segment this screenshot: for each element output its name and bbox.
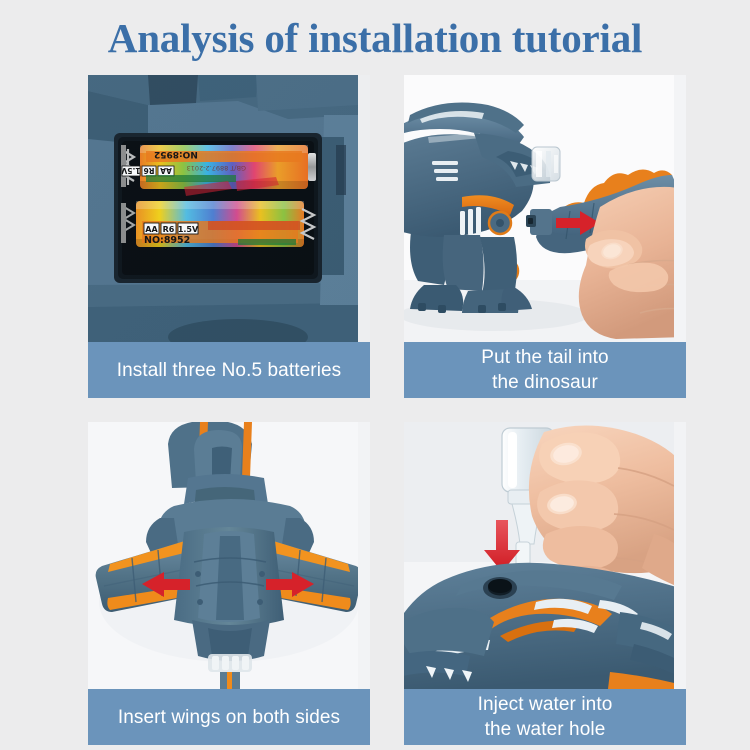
step-caption-text-2: Put the tail into the dinosaur: [481, 345, 608, 395]
step-caption-1: Install three No.5 batteries: [88, 342, 370, 398]
step-caption-text-1: Install three No.5 batteries: [117, 358, 342, 383]
step-card-3[interactable]: Insert wings on both sides: [88, 422, 370, 745]
step-caption-3: Insert wings on both sides: [88, 689, 370, 745]
page-title: Analysis of installation tutorial: [0, 12, 750, 64]
step-card-4[interactable]: Inject water into the water hole: [404, 422, 686, 745]
battery-compartment-photo: NO:8952 AA R6 1.5V GB/T 8897.2-2013: [88, 75, 370, 342]
step-caption-text-4: Inject water into the water hole: [478, 692, 613, 742]
inject-water-photo: [404, 422, 686, 689]
step-card-1[interactable]: NO:8952 AA R6 1.5V GB/T 8897.2-2013: [88, 75, 370, 398]
step-caption-2: Put the tail into the dinosaur: [404, 342, 686, 398]
step-caption-4: Inject water into the water hole: [404, 689, 686, 745]
insert-wings-photo: [88, 422, 370, 689]
step-card-2[interactable]: Put the tail into the dinosaur: [404, 75, 686, 398]
steps-grid: NO:8952 AA R6 1.5V GB/T 8897.2-2013: [88, 75, 686, 750]
attach-tail-photo: [404, 75, 686, 342]
step-caption-text-3: Insert wings on both sides: [118, 705, 340, 730]
